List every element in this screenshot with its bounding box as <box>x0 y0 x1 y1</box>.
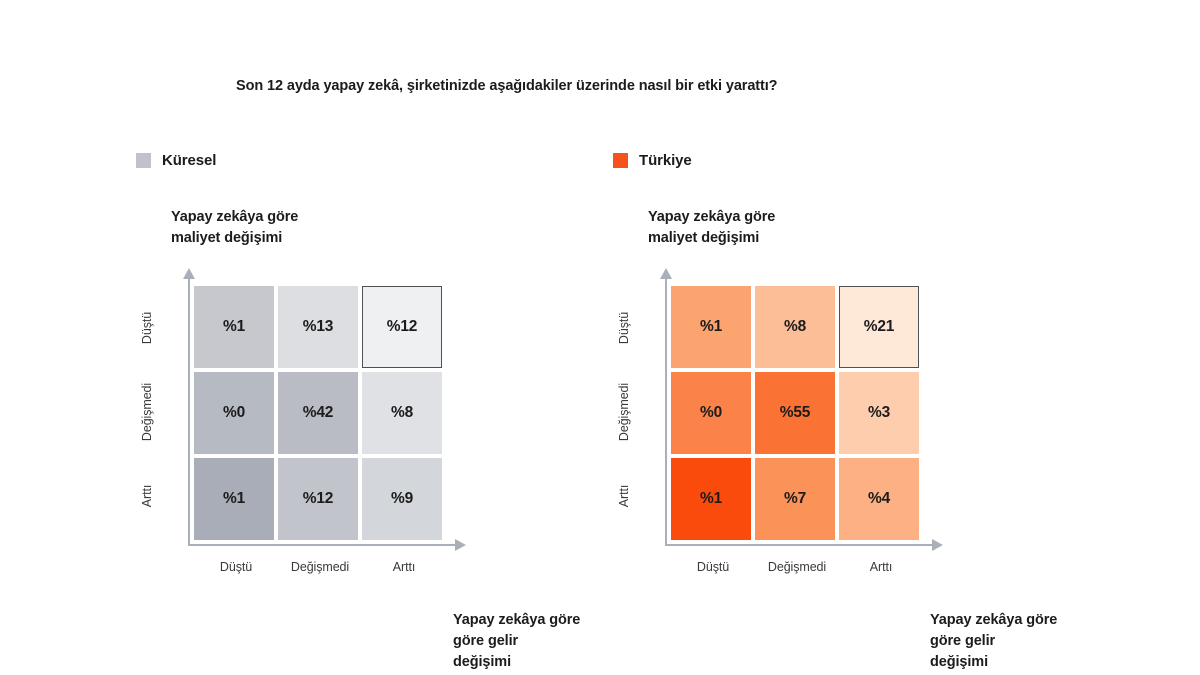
y-axis-caption-line-2: maliyet değişimi <box>171 228 298 249</box>
x-axis-tick-labels: Düştü Değişmedi Arttı <box>194 560 446 574</box>
page-title: Son 12 ayda yapay zekâ, şirketinizde aşa… <box>236 78 777 94</box>
heatmap-cell[interactable]: %55 <box>755 372 835 454</box>
y-tick-degismedi: Değişmedi <box>617 370 635 454</box>
x-axis-tick-labels: Düştü Değişmedi Arttı <box>671 560 923 574</box>
legend-turkiye: Türkiye <box>613 150 692 170</box>
heatmap-cell[interactable]: %13 <box>278 286 358 368</box>
y-tick-dustu: Düştü <box>140 286 158 370</box>
y-axis-arrow-icon <box>665 278 667 546</box>
heatmap-cell[interactable]: %9 <box>362 458 442 540</box>
heatmap-cell[interactable]: %1 <box>194 286 274 368</box>
y-tick-dustu: Düştü <box>617 286 635 370</box>
heatmap-cell[interactable]: %7 <box>755 458 835 540</box>
y-axis-arrow-icon <box>188 278 190 546</box>
legend-kuresel: Küresel <box>136 150 216 170</box>
y-tick-artti: Arttı <box>140 454 158 538</box>
x-axis-caption-line-3: değişimi <box>930 652 1057 673</box>
chart-panel-kuresel: Küresel Yapay zekâya göre maliyet değişi… <box>136 150 216 170</box>
x-tick-degismedi: Değişmedi <box>755 560 839 574</box>
y-tick-degismedi: Değişmedi <box>140 370 158 454</box>
x-axis-caption-line-1: Yapay zekâya göre <box>930 610 1057 631</box>
heatmap-cell[interactable]: %4 <box>839 458 919 540</box>
x-axis-caption-line-2: göre gelir <box>453 631 580 652</box>
heatmap-grid-kuresel: %1 %13 %12 %0 %42 %8 %1 %12 %9 <box>194 286 442 540</box>
legend-swatch-icon <box>136 153 151 168</box>
heatmap-cell[interactable]: %8 <box>362 372 442 454</box>
heatmap-cell[interactable]: %0 <box>194 372 274 454</box>
heatmap-cell[interactable]: %12 <box>362 286 442 368</box>
x-tick-artti: Arttı <box>362 560 446 574</box>
x-axis-caption-line-3: değişimi <box>453 652 580 673</box>
legend-label-kuresel: Küresel <box>162 152 216 169</box>
y-axis-tick-labels: Düştü Değişmedi Arttı <box>613 286 661 538</box>
heatmap-grid-turkiye: %1 %8 %21 %0 %55 %3 %1 %7 %4 <box>671 286 919 540</box>
y-tick-artti: Arttı <box>617 454 635 538</box>
y-axis-caption: Yapay zekâya göre maliyet değişimi <box>171 207 298 249</box>
heatmap-cell[interactable]: %12 <box>278 458 358 540</box>
y-axis-tick-labels: Düştü Değişmedi Arttı <box>136 286 184 538</box>
x-axis-arrow-icon <box>665 544 933 546</box>
x-axis-caption: Yapay zekâya göre göre gelir değişimi <box>453 610 580 673</box>
heatmap-cell[interactable]: %1 <box>671 458 751 540</box>
legend-label-turkiye: Türkiye <box>639 152 692 169</box>
chart-panel-turkiye: Türkiye Yapay zekâya göre maliyet değişi… <box>613 150 692 170</box>
heatmap-cell[interactable]: %1 <box>671 286 751 368</box>
x-axis-caption-line-1: Yapay zekâya göre <box>453 610 580 631</box>
y-axis-caption-line-2: maliyet değişimi <box>648 228 775 249</box>
heatmap-cell[interactable]: %1 <box>194 458 274 540</box>
heatmap-kuresel: Düştü Değişmedi Arttı %1 %13 %12 %0 %42 … <box>136 278 466 568</box>
heatmap-cell[interactable]: %42 <box>278 372 358 454</box>
heatmap-cell[interactable]: %0 <box>671 372 751 454</box>
heatmap-cell[interactable]: %8 <box>755 286 835 368</box>
x-tick-dustu: Düştü <box>194 560 278 574</box>
x-tick-dustu: Düştü <box>671 560 755 574</box>
x-axis-caption: Yapay zekâya göre göre gelir değişimi <box>930 610 1057 673</box>
y-axis-caption: Yapay zekâya göre maliyet değişimi <box>648 207 775 249</box>
x-axis-caption-line-2: göre gelir <box>930 631 1057 652</box>
heatmap-cell[interactable]: %3 <box>839 372 919 454</box>
y-axis-caption-line-1: Yapay zekâya göre <box>171 207 298 228</box>
x-tick-degismedi: Değişmedi <box>278 560 362 574</box>
heatmap-turkiye: Düştü Değişmedi Arttı %1 %8 %21 %0 %55 %… <box>613 278 943 568</box>
legend-swatch-icon <box>613 153 628 168</box>
x-tick-artti: Arttı <box>839 560 923 574</box>
heatmap-cell[interactable]: %21 <box>839 286 919 368</box>
x-axis-arrow-icon <box>188 544 456 546</box>
y-axis-caption-line-1: Yapay zekâya göre <box>648 207 775 228</box>
